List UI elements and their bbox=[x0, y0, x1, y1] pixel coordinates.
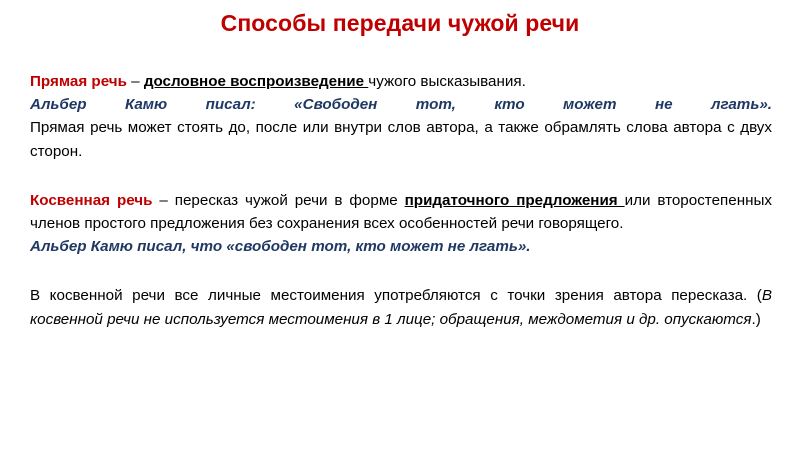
block-spacer-1 bbox=[30, 163, 772, 189]
direct-speech-dash: – bbox=[127, 73, 144, 90]
indirect-speech-definition: Косвенная речь – пересказ чужой речи в ф… bbox=[30, 189, 772, 235]
direct-speech-definition-rest: чужого высказывания. bbox=[368, 73, 526, 90]
block-spacer-2 bbox=[30, 258, 772, 284]
direct-speech-example: Альбер Камю писал: «Свободен тот, кто мо… bbox=[30, 93, 772, 116]
page-title: Способы передачи чужой речи bbox=[0, 10, 800, 36]
direct-speech-note: Прямая речь может стоять до, после или в… bbox=[30, 116, 772, 162]
slide-root: Способы передачи чужой речи Прямая речь … bbox=[0, 0, 800, 450]
slide-body: Прямая речь – дословное воспроизведение … bbox=[30, 70, 772, 331]
direct-speech-definition: Прямая речь – дословное воспроизведение … bbox=[30, 70, 772, 93]
indirect-speech-dash: – bbox=[152, 192, 174, 209]
indirect-speech-underlined-phrase: придаточного предложения bbox=[405, 192, 625, 209]
indirect-speech-definition-start: пересказ чужой речи в форме bbox=[175, 192, 405, 209]
indirect-speech-term: Косвенная речь bbox=[30, 192, 152, 209]
section-indirect-speech: Косвенная речь – пересказ чужой речи в ф… bbox=[30, 189, 772, 259]
pronoun-note-start: В косвенной речи все личные местоимения … bbox=[30, 287, 762, 304]
section-pronoun-note: В косвенной речи все личные местоимения … bbox=[30, 284, 772, 330]
direct-speech-underlined-phrase: дословное воспроизведение bbox=[144, 73, 368, 90]
pronoun-note-end: .) bbox=[751, 311, 760, 328]
direct-speech-term: Прямая речь bbox=[30, 73, 127, 90]
pronoun-note-paragraph: В косвенной речи все личные местоимения … bbox=[30, 284, 772, 330]
indirect-speech-example: Альбер Камю писал, что «свободен тот, кт… bbox=[30, 235, 772, 258]
section-direct-speech: Прямая речь – дословное воспроизведение … bbox=[30, 70, 772, 163]
